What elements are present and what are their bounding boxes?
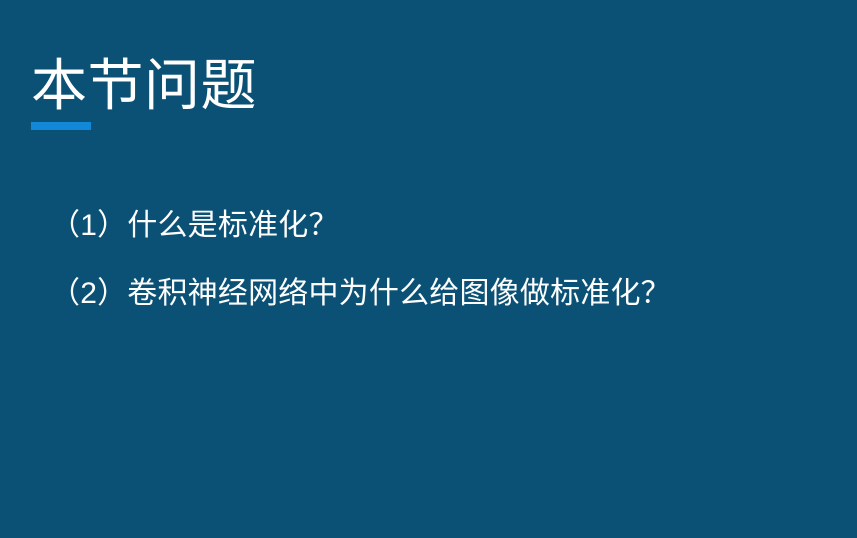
body-line-1: （1）什么是标准化？ bbox=[50, 203, 830, 249]
slide-body-block: （1）什么是标准化？ （2）卷积神经网络中为什么给图像做标准化？ bbox=[50, 203, 830, 317]
body-line-2: （2）卷积神经网络中为什么给图像做标准化？ bbox=[50, 271, 830, 317]
title-accent-bar bbox=[31, 122, 91, 130]
slide-canvas: 本节问题 （1）什么是标准化？ （2）卷积神经网络中为什么给图像做标准化？ bbox=[0, 0, 857, 538]
slide-title-block: 本节问题 bbox=[31, 52, 257, 130]
page-title: 本节问题 bbox=[31, 52, 257, 120]
